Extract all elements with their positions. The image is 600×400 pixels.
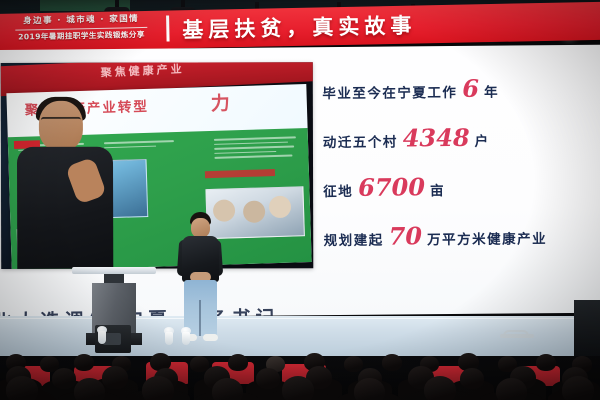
line-prefix: 规划建起 [324,233,384,250]
audience-head [460,368,484,389]
eyeglasses-icon [41,117,81,127]
screen-text-line: 征地6700亩 [323,171,597,202]
line-suffix: 万平方米健康产业 [427,231,547,248]
slide-photo: 聚焦健康产业 聚焦健康产业转型 力 [1,62,314,269]
audience-head [228,354,248,371]
banner-event-line: 2019年暑期挂职学生实践锻炼分享 [6,29,156,43]
audience-head [562,376,594,400]
slide-red-header-text: 聚焦健康产业 [100,62,185,80]
audience-head [354,378,385,400]
audience-head [74,354,94,371]
line-prefix: 毕业至今在宁夏工作 [322,85,457,102]
audience-head [6,376,38,400]
newspaper-column [214,136,297,161]
line-number: 6700 [358,172,425,202]
screen-text-line: 毕业至今在宁夏工作6年 [322,73,596,104]
line-number: 70 [389,221,423,250]
line-suffix: 户 [475,134,490,150]
audience-head [212,378,243,400]
speaker-person [176,212,224,346]
audience-head [382,354,402,371]
screenshot-root: 身边事 · 城市魂 · 家国情 2019年暑期挂职学生实践锻炼分享 基层扶贫，真… [0,0,600,400]
audience-head [142,376,174,400]
newspaper-headline-right: 力 [210,88,230,116]
audience-head [52,368,76,389]
audience-head [282,376,314,400]
line-suffix: 年 [484,85,499,101]
slide-person-photo [9,97,121,269]
line-prefix: 动迁五个村 [323,134,398,151]
banner-vertical-divider [166,15,170,41]
audience-head [256,368,280,389]
audience-head [74,378,105,400]
line-prefix: 征地 [323,184,353,200]
banner-subtitle-block: 身边事 · 城市魂 · 家国情 2019年暑期挂职学生实践锻炼分享 [6,13,157,50]
audience-head [102,366,128,389]
audience-head [536,354,556,371]
audience-head [424,376,456,400]
audience-head [496,378,527,400]
audience-area [0,336,600,400]
newspaper-red-tag [205,169,275,178]
line-number: 6 [462,74,479,103]
audience-head [344,356,363,372]
screen-text-line: 动迁五个村4348户 [323,122,597,153]
banner-main-title: 基层扶贫，真实故事 [182,10,417,45]
screen-text-line: 规划建起70万平方米健康产业 [324,220,598,251]
line-suffix: 亩 [430,183,445,199]
screen-text-block: 毕业至今在宁夏工作6年 动迁五个村4348户 征地6700亩 规划建起70万平方… [322,73,598,271]
line-number: 4348 [403,123,470,153]
